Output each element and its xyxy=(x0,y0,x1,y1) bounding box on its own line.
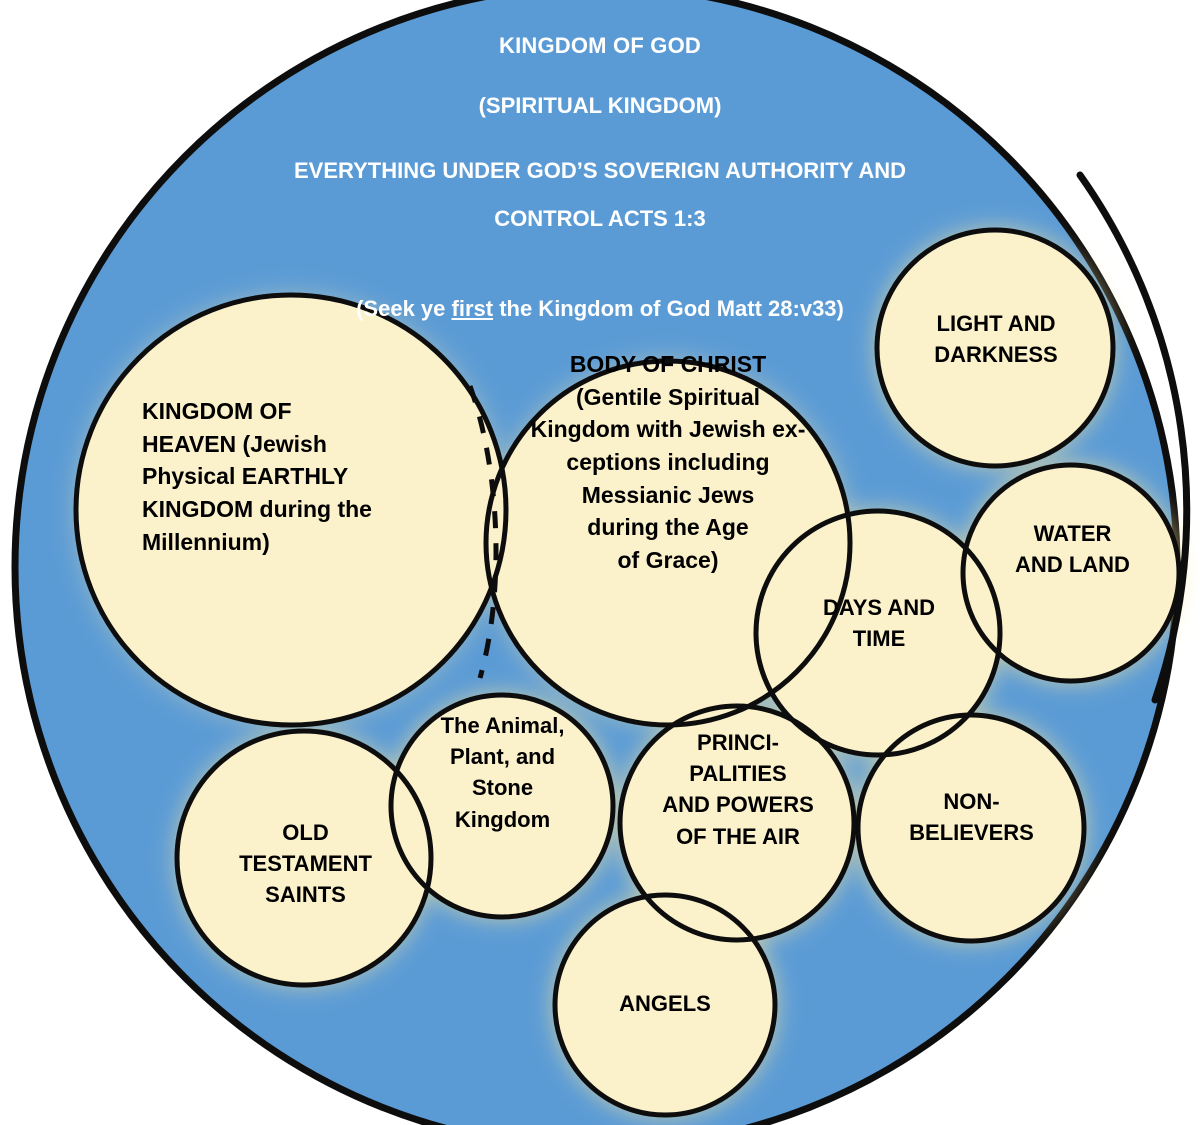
kingdom-of-god-venn-svg xyxy=(0,0,1200,1125)
diagram-canvas: KINGDOM OF GOD (SPIRITUAL KINGDOM) EVERY… xyxy=(0,0,1200,1125)
